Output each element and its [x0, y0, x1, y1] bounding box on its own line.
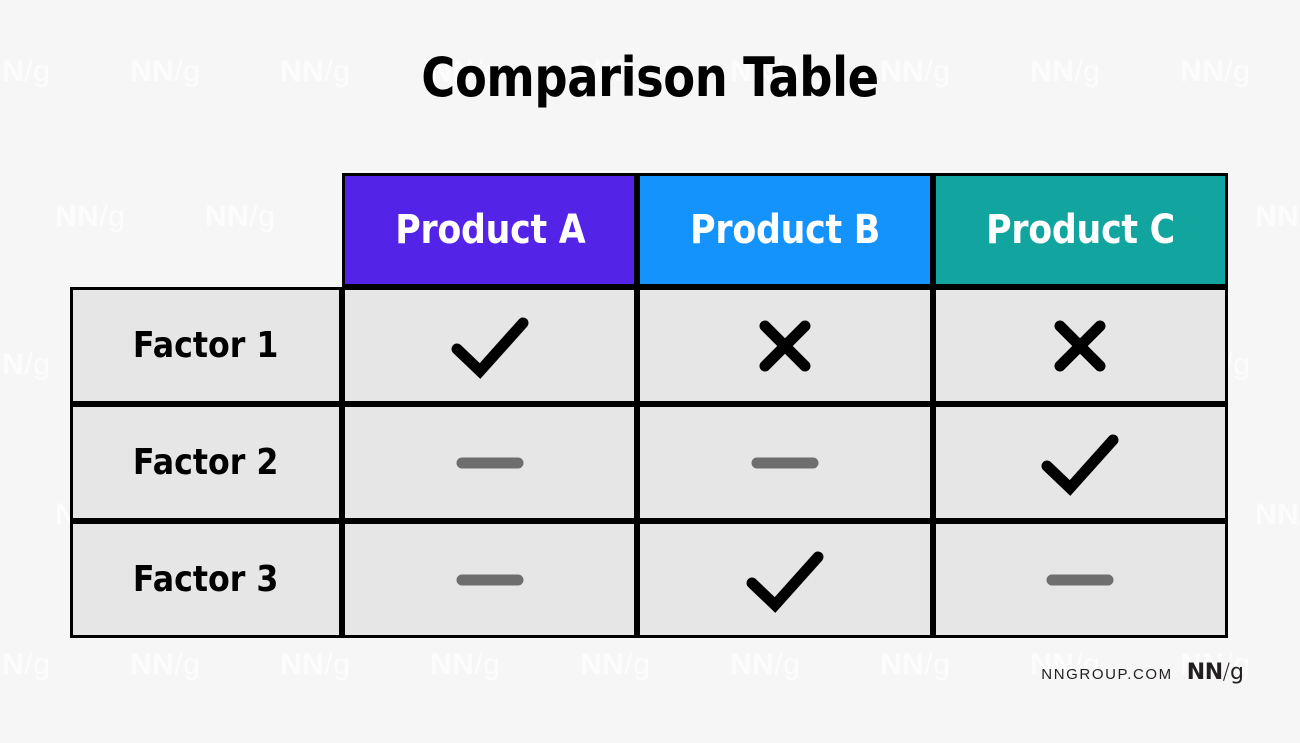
watermark-nng: NN/g: [1255, 200, 1300, 234]
cell-r3-c1[interactable]: [342, 521, 637, 638]
table-body: Factor 1Factor 2Factor 3: [70, 287, 1228, 638]
nng-logo: NN/g: [1187, 660, 1244, 685]
page-title: Comparison Table: [91, 48, 1209, 107]
table-row: Factor 1: [70, 287, 1228, 404]
watermark-nng: NN/g: [880, 648, 950, 682]
table-row: Factor 2: [70, 404, 1228, 521]
row-header-2[interactable]: Factor 2: [70, 404, 342, 521]
column-header-product-b[interactable]: Product B: [637, 173, 932, 287]
table-head: Product A Product B Product C: [70, 173, 1228, 287]
watermark-nng: NN/g: [130, 648, 200, 682]
dash-icon: [1044, 571, 1116, 588]
column-header-label: Product B: [690, 207, 880, 253]
row-header-label: Factor 3: [133, 559, 279, 600]
cell-r2-c2[interactable]: [637, 404, 932, 521]
nng-logo-nn: NN: [1187, 660, 1223, 685]
row-header-label: Factor 2: [133, 442, 279, 483]
watermark-nng: NN/g: [430, 648, 500, 682]
row-header-label: Factor 1: [133, 325, 279, 366]
cell-r2-c1[interactable]: [342, 404, 637, 521]
cell-r2-c3[interactable]: [933, 404, 1228, 521]
column-header-product-a[interactable]: Product A: [342, 173, 637, 287]
check-icon: [742, 571, 828, 588]
dash-icon: [749, 454, 821, 471]
check-icon: [1037, 454, 1123, 471]
nng-logo-slash: /: [1223, 660, 1230, 685]
footer-url: NNGROUP.COM: [1041, 666, 1173, 683]
row-header-1[interactable]: Factor 1: [70, 287, 342, 404]
cell-r1-c3[interactable]: [933, 287, 1228, 404]
watermark-nng: NN/g: [0, 55, 50, 89]
table-row: Factor 3: [70, 521, 1228, 638]
table-corner-cell: [70, 173, 342, 287]
check-icon: [447, 337, 533, 354]
watermark-nng: NN/g: [1255, 498, 1300, 532]
comparison-table: Product A Product B Product C Factor 1Fa…: [70, 173, 1228, 638]
dash-icon: [454, 571, 526, 588]
cross-icon: [753, 337, 817, 354]
column-header-label: Product C: [986, 207, 1175, 253]
cell-r1-c1[interactable]: [342, 287, 637, 404]
column-header-product-c[interactable]: Product C: [933, 173, 1228, 287]
watermark-nng: NN/g: [0, 348, 50, 382]
watermark-nng: NN/g: [730, 648, 800, 682]
nng-logo-g: g: [1230, 660, 1244, 685]
watermark-nng: NN/g: [0, 648, 50, 682]
cell-r3-c2[interactable]: [637, 521, 932, 638]
column-header-label: Product A: [395, 207, 585, 253]
table-header-row: Product A Product B Product C: [70, 173, 1228, 287]
dash-icon: [454, 454, 526, 471]
cell-r3-c3[interactable]: [933, 521, 1228, 638]
cell-r1-c2[interactable]: [637, 287, 932, 404]
cross-icon: [1048, 337, 1112, 354]
row-header-3[interactable]: Factor 3: [70, 521, 342, 638]
footer-logo: NNGROUP.COM NN/g: [1041, 660, 1244, 685]
watermark-nng: NN/g: [280, 648, 350, 682]
watermark-nng: NN/g: [580, 648, 650, 682]
